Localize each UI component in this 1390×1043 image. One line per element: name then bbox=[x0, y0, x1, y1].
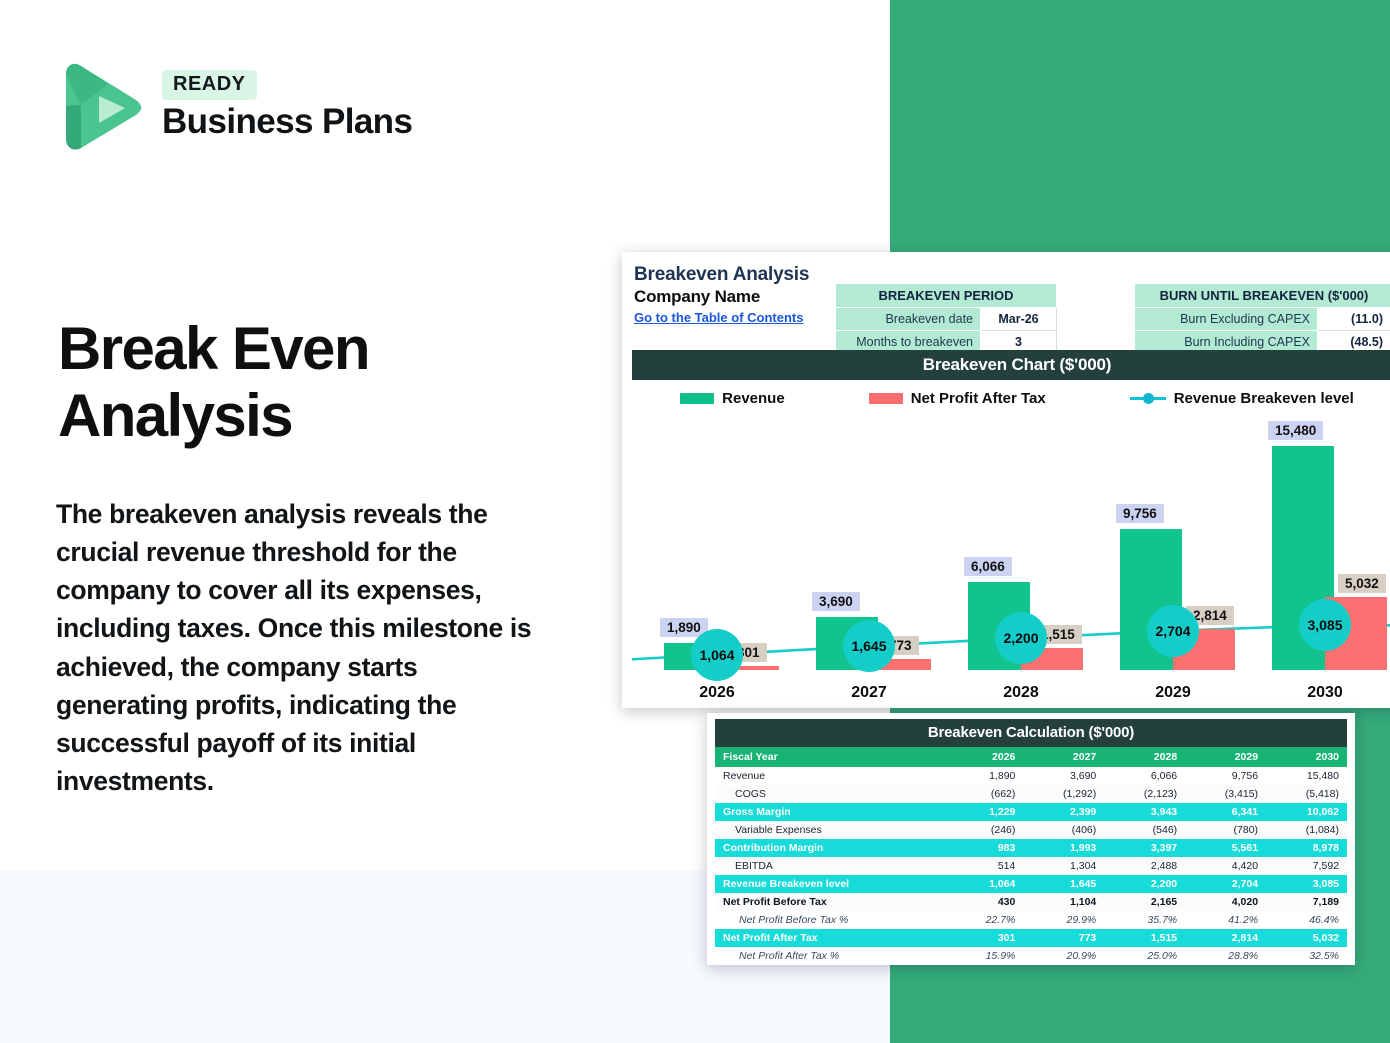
cell-2029: 2,704 bbox=[1185, 875, 1266, 893]
breakeven-marker[interactable]: 3,085 bbox=[1299, 599, 1351, 651]
row-label: Net Profit After Tax bbox=[715, 929, 948, 947]
revenue-value-label: 15,480 bbox=[1268, 421, 1323, 440]
play-triangle-logo-icon bbox=[58, 60, 144, 152]
table-row: Variable Expenses(246)(406)(546)(780)(1,… bbox=[715, 821, 1347, 839]
breakeven-calculation-table: Fiscal Year20262027202820292030 Revenue1… bbox=[715, 747, 1347, 965]
breakeven-marker[interactable]: 1,064 bbox=[691, 629, 743, 681]
table-row: Revenue1,8903,6906,0669,75615,480 bbox=[715, 767, 1347, 785]
cell-2027: 3,690 bbox=[1023, 767, 1104, 785]
row-label: Net Profit Before Tax bbox=[715, 893, 948, 911]
cell-2030: 3,085 bbox=[1266, 875, 1347, 893]
cell-2027: (406) bbox=[1023, 821, 1104, 839]
brand-logo[interactable]: READY Business Plans bbox=[58, 60, 438, 160]
cell-2029: 9,756 bbox=[1185, 767, 1266, 785]
cell-2030: 46.4% bbox=[1266, 911, 1347, 929]
brand-badge: READY bbox=[162, 70, 257, 100]
burn-until-breakeven-table: BURN UNTIL BREAKEVEN ($'000) Burn Exclud… bbox=[1134, 283, 1390, 354]
cell-2030: 7,189 bbox=[1266, 893, 1347, 911]
line-dot-marker-icon bbox=[1130, 392, 1166, 404]
breakeven-period-header: BREAKEVEN PERIOD bbox=[836, 284, 1057, 308]
cell-2026: (246) bbox=[948, 821, 1023, 839]
cell-2028: (546) bbox=[1104, 821, 1185, 839]
brand-name: Business Plans bbox=[162, 102, 412, 142]
x-axis-label-2028: 2028 bbox=[946, 684, 1096, 702]
cell-2028: 2,165 bbox=[1104, 893, 1185, 911]
green-panel-top bbox=[890, 0, 1390, 255]
legend-label-breakeven: Revenue Breakeven level bbox=[1174, 390, 1354, 407]
row-label: Net Profit After Tax % bbox=[715, 947, 948, 965]
breakeven-calculation-card: Breakeven Calculation ($'000) Fiscal Yea… bbox=[707, 713, 1355, 965]
revenue-value-label: 9,756 bbox=[1116, 504, 1164, 523]
cell-2029: 28.8% bbox=[1185, 947, 1266, 965]
cell-2026: 1,064 bbox=[948, 875, 1023, 893]
breakeven-date-value: Mar-26 bbox=[981, 308, 1057, 331]
row-label: Gross Margin bbox=[715, 803, 948, 821]
column-header-2026: 2026 bbox=[948, 747, 1023, 767]
legend-label-revenue: Revenue bbox=[722, 390, 785, 407]
column-header-2030: 2030 bbox=[1266, 747, 1347, 767]
cell-2027: 1,993 bbox=[1023, 839, 1104, 857]
column-header-2027: 2027 bbox=[1023, 747, 1104, 767]
cell-2028: 6,066 bbox=[1104, 767, 1185, 785]
cell-2029: 4,420 bbox=[1185, 857, 1266, 875]
table-row: Breakeven date Mar-26 bbox=[836, 308, 1057, 331]
breakeven-marker[interactable]: 2,200 bbox=[995, 612, 1047, 664]
row-label: Net Profit Before Tax % bbox=[715, 911, 948, 929]
cell-2027: 2,399 bbox=[1023, 803, 1104, 821]
cell-2029: (3,415) bbox=[1185, 785, 1266, 803]
column-header-fiscal-year: Fiscal Year bbox=[715, 747, 948, 767]
cell-2026: 983 bbox=[948, 839, 1023, 857]
cell-2030: 7,592 bbox=[1266, 857, 1347, 875]
legend-item-revenue[interactable]: Revenue bbox=[680, 390, 785, 407]
npat-value-label: 5,032 bbox=[1338, 574, 1386, 593]
table-row: Net Profit After Tax3017731,5152,8145,03… bbox=[715, 929, 1347, 947]
row-label: Revenue Breakeven level bbox=[715, 875, 948, 893]
revenue-swatch-icon bbox=[680, 393, 714, 404]
legend-item-net-profit-after-tax[interactable]: Net Profit After Tax bbox=[869, 390, 1046, 407]
cell-2030: 10,062 bbox=[1266, 803, 1347, 821]
cell-2026: (662) bbox=[948, 785, 1023, 803]
cell-2026: 301 bbox=[948, 929, 1023, 947]
row-label: Contribution Margin bbox=[715, 839, 948, 857]
table-of-contents-link[interactable]: Go to the Table of Contents bbox=[634, 310, 803, 325]
cell-2028: 25.0% bbox=[1104, 947, 1185, 965]
revenue-value-label: 3,690 bbox=[812, 592, 860, 611]
breakeven-marker[interactable]: 2,704 bbox=[1147, 605, 1199, 657]
table-header-row: Fiscal Year20262027202820292030 bbox=[715, 747, 1347, 767]
cell-2030: 15,480 bbox=[1266, 767, 1347, 785]
burn-header: BURN UNTIL BREAKEVEN ($'000) bbox=[1135, 284, 1390, 308]
cell-2029: (780) bbox=[1185, 821, 1266, 839]
sheet-header: Breakeven Analysis Company Name Go to th… bbox=[622, 252, 1390, 347]
cell-2029: 6,341 bbox=[1185, 803, 1266, 821]
hero-description: The breakeven analysis reveals the cruci… bbox=[56, 495, 556, 800]
page-title: Break EvenAnalysis bbox=[58, 315, 578, 449]
cell-2029: 2,814 bbox=[1185, 929, 1266, 947]
cell-2028: 2,488 bbox=[1104, 857, 1185, 875]
chart-banner-title: Breakeven Chart ($'000) bbox=[632, 350, 1390, 380]
cell-2028: (2,123) bbox=[1104, 785, 1185, 803]
cell-2030: 8,978 bbox=[1266, 839, 1347, 857]
table-row: EBITDA5141,3042,4884,4207,592 bbox=[715, 857, 1347, 875]
cell-2027: 20.9% bbox=[1023, 947, 1104, 965]
table-row: Revenue Breakeven level1,0641,6452,2002,… bbox=[715, 875, 1347, 893]
chart-group-2030: 15,4805,0323,085 bbox=[1250, 438, 1390, 670]
chart-group-2026: 1,8903011,064 bbox=[642, 438, 792, 670]
row-label: EBITDA bbox=[715, 857, 948, 875]
breakeven-date-label: Breakeven date bbox=[836, 308, 981, 331]
cell-2028: 1,515 bbox=[1104, 929, 1185, 947]
table-row: Burn Excluding CAPEX (11.0) bbox=[1135, 308, 1390, 331]
legend-item-revenue-breakeven-level[interactable]: Revenue Breakeven level bbox=[1130, 390, 1354, 407]
slide-canvas: READY Business Plans Break EvenAnalysis … bbox=[0, 0, 1390, 1043]
table-row: Net Profit After Tax %15.9%20.9%25.0%28.… bbox=[715, 947, 1347, 965]
table-row: COGS(662)(1,292)(2,123)(3,415)(5,418) bbox=[715, 785, 1347, 803]
cell-2030: (1,084) bbox=[1266, 821, 1347, 839]
chart-group-2028: 6,0661,5152,200 bbox=[946, 438, 1096, 670]
cell-2029: 41.2% bbox=[1185, 911, 1266, 929]
burn-excluding-capex-value: (11.0) bbox=[1318, 308, 1390, 331]
cell-2030: (5,418) bbox=[1266, 785, 1347, 803]
column-header-2028: 2028 bbox=[1104, 747, 1185, 767]
table-row: Net Profit Before Tax4301,1042,1654,0207… bbox=[715, 893, 1347, 911]
revenue-value-label: 6,066 bbox=[964, 557, 1012, 576]
legend-label-npat: Net Profit After Tax bbox=[911, 390, 1046, 407]
x-axis-label-2030: 2030 bbox=[1250, 684, 1390, 702]
cell-2028: 3,397 bbox=[1104, 839, 1185, 857]
cell-2026: 15.9% bbox=[948, 947, 1023, 965]
cell-2027: 1,645 bbox=[1023, 875, 1104, 893]
cell-2028: 2,200 bbox=[1104, 875, 1185, 893]
brand-logo-text: READY Business Plans bbox=[162, 70, 412, 142]
cell-2026: 514 bbox=[948, 857, 1023, 875]
chart-group-2027: 3,6907731,645 bbox=[794, 438, 944, 670]
cell-2026: 22.7% bbox=[948, 911, 1023, 929]
chart-group-2029: 9,7562,8142,704 bbox=[1098, 438, 1248, 670]
cell-2029: 5,561 bbox=[1185, 839, 1266, 857]
burn-excluding-capex-label: Burn Excluding CAPEX bbox=[1135, 308, 1318, 331]
cell-2027: 773 bbox=[1023, 929, 1104, 947]
calc-banner-title: Breakeven Calculation ($'000) bbox=[715, 719, 1347, 747]
column-header-2029: 2029 bbox=[1185, 747, 1266, 767]
cell-2027: 29.9% bbox=[1023, 911, 1104, 929]
cell-2028: 35.7% bbox=[1104, 911, 1185, 929]
cell-2029: 4,020 bbox=[1185, 893, 1266, 911]
row-label: Revenue bbox=[715, 767, 948, 785]
row-label: COGS bbox=[715, 785, 948, 803]
breakeven-marker[interactable]: 1,645 bbox=[843, 620, 895, 672]
cell-2027: 1,104 bbox=[1023, 893, 1104, 911]
cell-2028: 3,943 bbox=[1104, 803, 1185, 821]
chart-plot-area: 1,8903011,06420263,6907731,64520276,0661… bbox=[632, 420, 1390, 708]
table-row: Contribution Margin9831,9933,3975,5618,9… bbox=[715, 839, 1347, 857]
row-label: Variable Expenses bbox=[715, 821, 948, 839]
cell-2027: (1,292) bbox=[1023, 785, 1104, 803]
breakeven-chart-card: Breakeven Analysis Company Name Go to th… bbox=[622, 252, 1390, 708]
chart-legend: Revenue Net Profit After Tax Revenue Bre… bbox=[632, 382, 1390, 414]
cell-2026: 430 bbox=[948, 893, 1023, 911]
cell-2026: 1,229 bbox=[948, 803, 1023, 821]
x-axis-label-2027: 2027 bbox=[794, 684, 944, 702]
npat-swatch-icon bbox=[869, 393, 903, 404]
table-row: Net Profit Before Tax %22.7%29.9%35.7%41… bbox=[715, 911, 1347, 929]
x-axis-label-2029: 2029 bbox=[1098, 684, 1248, 702]
cell-2030: 5,032 bbox=[1266, 929, 1347, 947]
cell-2030: 32.5% bbox=[1266, 947, 1347, 965]
table-row: Gross Margin1,2292,3993,9436,34110,062 bbox=[715, 803, 1347, 821]
cell-2026: 1,890 bbox=[948, 767, 1023, 785]
cell-2027: 1,304 bbox=[1023, 857, 1104, 875]
x-axis-label-2026: 2026 bbox=[642, 684, 792, 702]
breakeven-period-table: BREAKEVEN PERIOD Breakeven date Mar-26 M… bbox=[835, 283, 1057, 354]
